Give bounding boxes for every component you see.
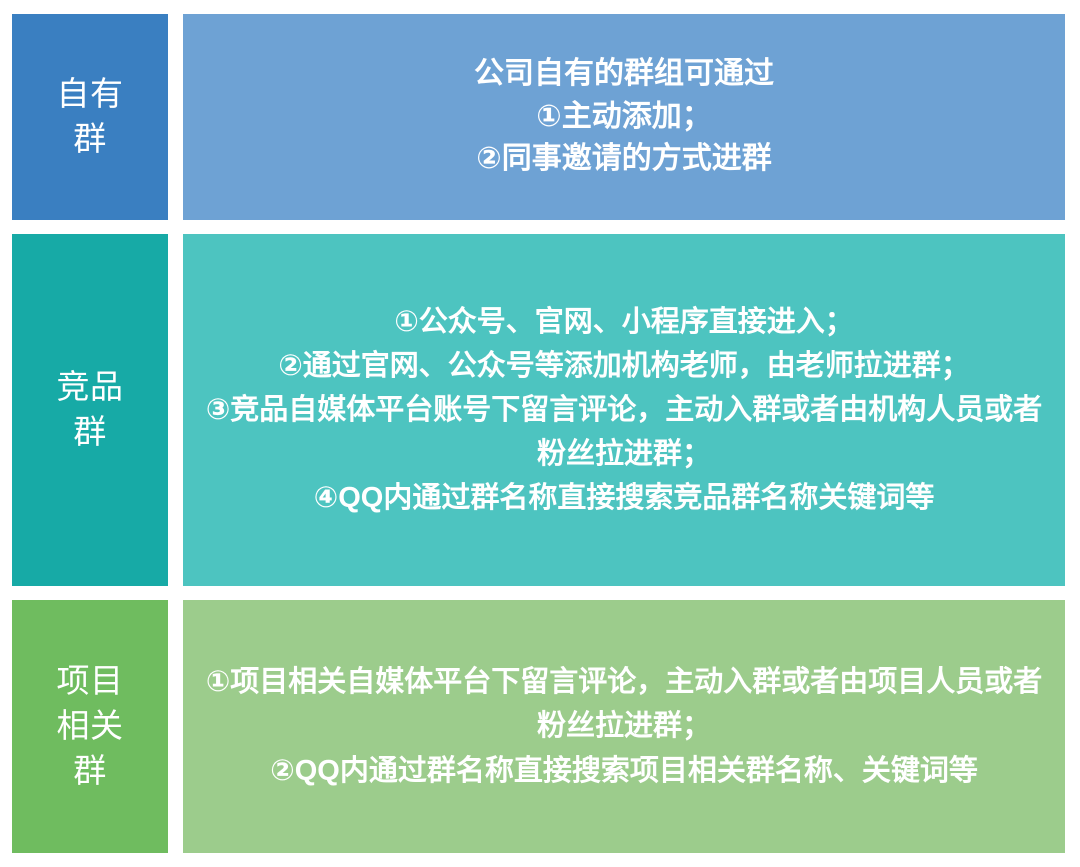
row-content-cell-competitor-group: ①公众号、官网、小程序直接进入； ②通过官网、公众号等添加机构老师，由老师拉进群… — [183, 234, 1065, 586]
row-content-own-group: 公司自有的群组可通过 ①主动添加； ②同事邀请的方式进群 — [474, 53, 774, 182]
row-content-cell-own-group: 公司自有的群组可通过 ①主动添加； ②同事邀请的方式进群 — [183, 14, 1065, 220]
row-content-project-group: ①项目相关自媒体平台下留言评论，主动入群或者由项目人员或者粉丝拉进群； ②QQ内… — [201, 660, 1047, 792]
column-gap — [168, 234, 183, 586]
row-content-cell-project-group: ①项目相关自媒体平台下留言评论，主动入群或者由项目人员或者粉丝拉进群； ②QQ内… — [183, 600, 1065, 853]
table-row-project-group: 项目 相关 群 ①项目相关自媒体平台下留言评论，主动入群或者由项目人员或者粉丝拉… — [12, 600, 1065, 853]
row-label-cell-project-group: 项目 相关 群 — [12, 600, 168, 853]
column-gap — [168, 14, 183, 220]
row-label-project-group: 项目 相关 群 — [57, 659, 124, 794]
row-label-cell-competitor-group: 竞品 群 — [12, 234, 168, 586]
column-gap — [168, 600, 183, 853]
row-label-own-group: 自有 群 — [57, 72, 124, 162]
group-acquisition-table: 自有 群 公司自有的群组可通过 ①主动添加； ②同事邀请的方式进群 竞品 群 ①… — [12, 14, 1065, 853]
table-row-competitor-group: 竞品 群 ①公众号、官网、小程序直接进入； ②通过官网、公众号等添加机构老师，由… — [12, 234, 1065, 586]
row-content-competitor-group: ①公众号、官网、小程序直接进入； ②通过官网、公众号等添加机构老师，由老师拉进群… — [201, 300, 1047, 520]
row-label-cell-own-group: 自有 群 — [12, 14, 168, 220]
table-row-own-group: 自有 群 公司自有的群组可通过 ①主动添加； ②同事邀请的方式进群 — [12, 14, 1065, 220]
row-label-competitor-group: 竞品 群 — [57, 365, 124, 455]
